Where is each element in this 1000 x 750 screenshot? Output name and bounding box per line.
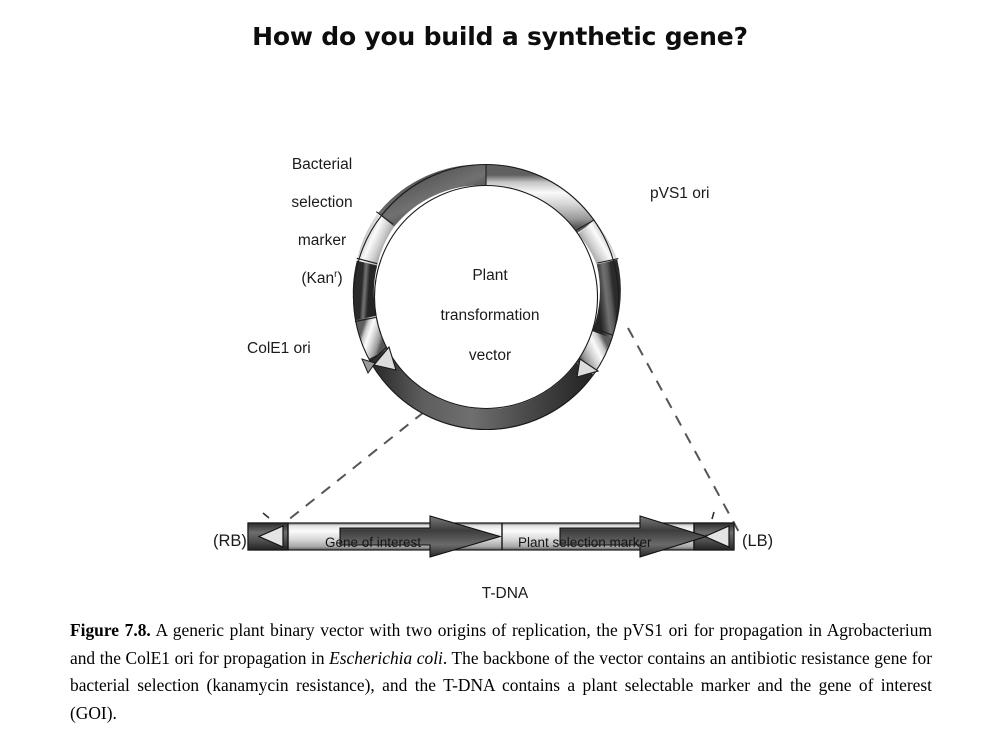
label-tdna: T-DNA: [440, 584, 570, 603]
label-left-border: (LB): [742, 532, 773, 551]
lb-tick-mark: [712, 512, 714, 519]
figure-caption: Figure 7.8. A generic plant binary vecto…: [70, 617, 932, 727]
label-pvs1-ori: pVS1 ori: [650, 184, 709, 203]
kanr-open: (Kan: [301, 270, 334, 287]
bacterial-marker-line-3: marker: [262, 231, 382, 250]
label-plant-selection-marker: Plant selection marker: [518, 535, 652, 550]
center-line-3: vector: [415, 346, 565, 366]
rb-tick-mark: [263, 513, 269, 518]
caption-figure-number: Figure 7.8.: [70, 620, 151, 640]
bacterial-marker-line-2: selection: [262, 193, 382, 212]
kanr-close: ): [337, 270, 342, 287]
label-cole1-ori: ColE1 ori: [247, 339, 311, 358]
figure-diagram: Bacterial selection marker (Kanr) pVS1 o…: [0, 80, 1000, 610]
bacterial-marker-line-4: (Kanr): [262, 269, 382, 288]
caption-species-name: Escherichia coli: [329, 648, 443, 668]
label-gene-of-interest: Gene of interest: [325, 535, 421, 550]
label-right-border: (RB): [213, 532, 247, 551]
center-line-1: Plant: [415, 266, 565, 286]
label-bacterial-selection-marker: Bacterial selection marker (Kanr): [262, 136, 382, 307]
bacterial-marker-line-1: Bacterial: [262, 155, 382, 174]
center-line-2: transformation: [415, 306, 565, 326]
page-title: How do you build a synthetic gene?: [0, 22, 1000, 51]
label-plasmid-center: Plant transformation vector: [415, 246, 565, 386]
